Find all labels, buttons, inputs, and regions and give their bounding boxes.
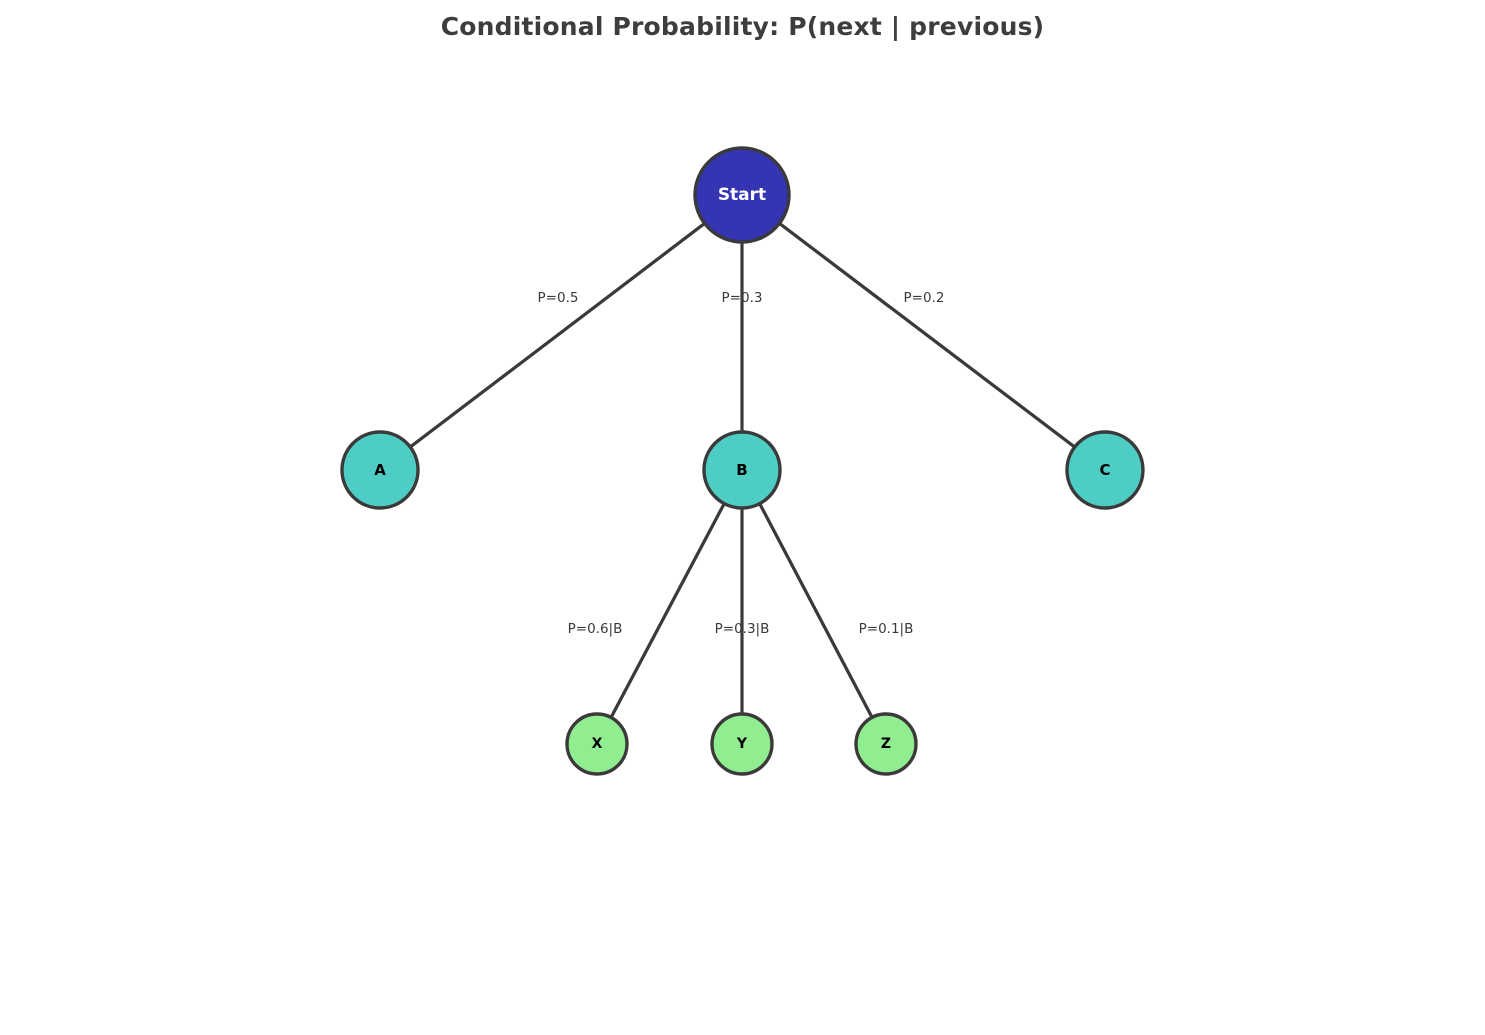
node-label-z: Z	[881, 736, 891, 752]
node-c[interactable]: C	[1067, 432, 1143, 508]
node-z[interactable]: Z	[856, 714, 916, 774]
node-b[interactable]: B	[704, 432, 780, 508]
node-label-a: A	[374, 461, 386, 479]
edge-label-b-x: P=0.6|B	[568, 621, 623, 637]
diagram-canvas: Conditional Probability: P(next | previo…	[0, 0, 1485, 1035]
node-label-y: Y	[736, 736, 748, 752]
edge-label-b-y: P=0.3|B	[715, 621, 770, 637]
node-label-b: B	[736, 461, 747, 479]
node-y[interactable]: Y	[712, 714, 772, 774]
edge-label-start-b: P=0.3	[722, 290, 763, 306]
edge-label-b-z: P=0.1|B	[859, 621, 914, 637]
node-x[interactable]: X	[567, 714, 627, 774]
edge-label-start-a: P=0.5	[538, 290, 579, 306]
edge-arrow-z	[742, 470, 886, 744]
edge-arrow-c	[742, 195, 1105, 470]
edge-arrow-x	[597, 470, 742, 744]
node-start[interactable]: Start	[695, 148, 789, 242]
node-label-start: Start	[718, 185, 766, 205]
probability-tree-graphic: StartABCXYZ P=0.5P=0.3P=0.2P=0.6|BP=0.3|…	[0, 0, 1485, 1035]
node-label-c: C	[1099, 461, 1110, 479]
edge-arrow-a	[380, 195, 742, 470]
edge-label-start-c: P=0.2	[904, 290, 945, 306]
node-a[interactable]: A	[342, 432, 418, 508]
node-label-x: X	[592, 736, 603, 752]
